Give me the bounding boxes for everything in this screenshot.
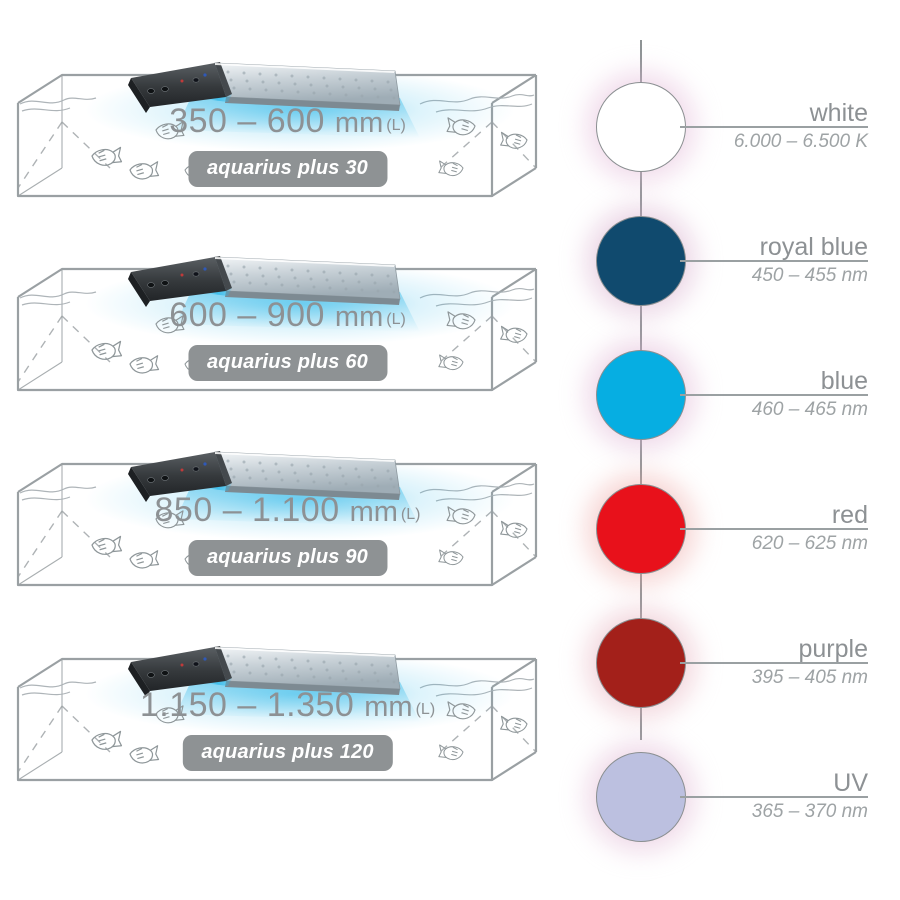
led-spectrum-item: royal blue450 – 455 nm bbox=[560, 209, 900, 319]
led-spec-value: 460 – 465 nm bbox=[752, 400, 868, 419]
led-spectrum-item: blue460 – 465 nm bbox=[560, 343, 900, 453]
led-color-name: UV bbox=[833, 771, 868, 796]
tank-size-label: 600 – 900 mm(L) bbox=[0, 298, 575, 332]
led-spec-value: 620 – 625 nm bbox=[752, 534, 868, 553]
led-spectrum-item: UV365 – 370 nm bbox=[560, 745, 900, 855]
tank-size-label: 350 – 600 mm(L) bbox=[0, 104, 575, 138]
tank-size-range: 350 – 600 bbox=[169, 102, 325, 140]
led-color-name: red bbox=[832, 503, 868, 528]
tank-size-unit: mm bbox=[335, 301, 383, 333]
tank-size-unit: mm bbox=[350, 496, 398, 528]
tank-size-unit: mm bbox=[364, 691, 412, 723]
tank-dimension-note: (L) bbox=[386, 117, 406, 134]
tank-size-range: 850 – 1.100 bbox=[155, 491, 340, 529]
model-badge: aquarius plus 30 bbox=[188, 151, 387, 187]
led-color-swatch bbox=[596, 618, 686, 708]
led-color-name: purple bbox=[799, 637, 869, 662]
led-spectrum-item: white6.000 – 6.500 K bbox=[560, 75, 900, 185]
aquarium-row: 1.150 – 1.350 mm(L)aquarius plus 120 bbox=[0, 602, 575, 797]
led-spectrum-item: purple395 – 405 nm bbox=[560, 611, 900, 721]
led-spec-value: 450 – 455 nm bbox=[752, 266, 868, 285]
tank-size-range: 600 – 900 bbox=[169, 296, 325, 334]
tank-size-label: 1.150 – 1.350 mm(L) bbox=[0, 688, 575, 722]
led-spec-value: 365 – 370 nm bbox=[752, 802, 868, 821]
led-spec-value: 395 – 405 nm bbox=[752, 668, 868, 687]
led-spec-value: 6.000 – 6.500 K bbox=[734, 132, 868, 151]
led-color-swatch bbox=[596, 216, 686, 306]
led-color-swatch bbox=[596, 82, 686, 172]
led-color-swatch bbox=[596, 484, 686, 574]
tank-size-label: 850 – 1.100 mm(L) bbox=[0, 493, 575, 527]
led-color-name: blue bbox=[821, 369, 868, 394]
led-spectrum-item: red620 – 625 nm bbox=[560, 477, 900, 587]
infographic-canvas: 350 – 600 mm(L)aquarius plus 30 bbox=[0, 0, 900, 900]
model-badge: aquarius plus 120 bbox=[182, 735, 392, 771]
tank-size-range: 1.150 – 1.350 bbox=[140, 686, 354, 724]
led-color-name: royal blue bbox=[760, 235, 868, 260]
model-badge: aquarius plus 90 bbox=[188, 540, 387, 576]
led-color-name: white bbox=[810, 101, 868, 126]
model-badge: aquarius plus 60 bbox=[188, 345, 387, 381]
led-color-swatch bbox=[596, 752, 686, 842]
tank-dimension-note: (L) bbox=[416, 701, 436, 718]
tank-size-unit: mm bbox=[335, 107, 383, 139]
tank-dimension-note: (L) bbox=[386, 311, 406, 328]
aquarium-row: 600 – 900 mm(L)aquarius plus 60 bbox=[0, 212, 575, 407]
aquarium-row: 850 – 1.100 mm(L)aquarius plus 90 bbox=[0, 407, 575, 602]
led-color-swatch bbox=[596, 350, 686, 440]
led-spectrum-column: white6.000 – 6.500 Kroyal blue450 – 455 … bbox=[560, 0, 900, 900]
aquarium-row: 350 – 600 mm(L)aquarius plus 30 bbox=[0, 18, 575, 213]
tank-dimension-note: (L) bbox=[401, 506, 421, 523]
